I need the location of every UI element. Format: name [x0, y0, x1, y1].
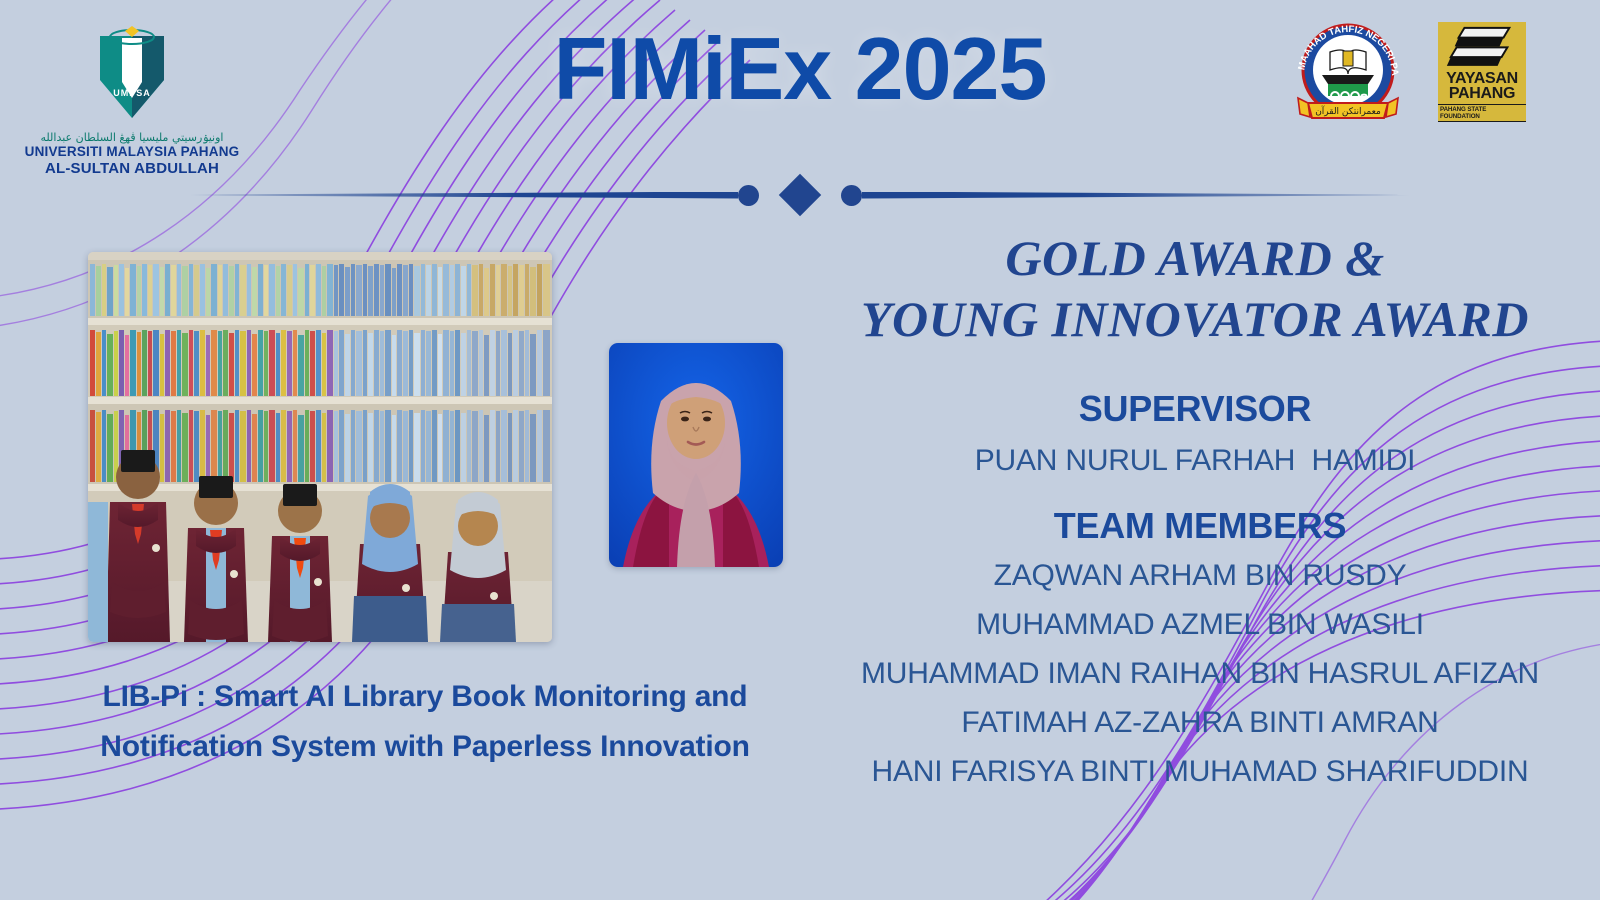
project-title: LIB-Pi : Smart AI Library Book Monitorin…: [75, 672, 775, 771]
divider-dot-right-icon: [841, 185, 862, 206]
team-member: FATIMAH AZ-ZAHRA BINTI AMRAN: [795, 703, 1600, 743]
team-member: ZAQWAN ARHAM BIN RUSDY: [795, 556, 1600, 596]
umpsa-name-line2: AL-SULTAN ABDULLAH: [22, 160, 242, 177]
supervisor-name: PUAN NURUL FARHAH HAMIDI: [800, 441, 1590, 481]
team-heading: TEAM MEMBERS: [795, 505, 1600, 547]
divider-diamond-icon: [779, 174, 821, 216]
team-member-list: ZAQWAN ARHAM BIN RUSDY MUHAMMAD AZMEL BI…: [795, 556, 1600, 791]
divider-line-left: [190, 192, 738, 199]
ornamental-divider: [190, 177, 1410, 213]
event-title: FIMiEx 2025: [0, 18, 1600, 120]
divider-dot-left-icon: [738, 185, 759, 206]
award-line-2: YOUNG INNOVATOR AWARD: [800, 289, 1590, 350]
supervisor-section: SUPERVISOR PUAN NURUL FARHAH HAMIDI: [800, 388, 1590, 481]
award-headline: GOLD AWARD & YOUNG INNOVATOR AWARD: [800, 228, 1590, 350]
group-photo: [88, 252, 552, 642]
team-member: MUHAMMAD AZMEL BIN WASILI: [795, 605, 1600, 645]
umpsa-arabic-text: اونيۏرسيتي مليسيا ڤهڠ السلطان عبدالله: [22, 132, 242, 143]
umpsa-name-line1: UNIVERSITI MALAYSIA PAHANG: [22, 144, 242, 160]
supervisor-heading: SUPERVISOR: [800, 388, 1590, 430]
team-section: TEAM MEMBERS ZAQWAN ARHAM BIN RUSDY MUHA…: [795, 505, 1600, 791]
team-member: MUHAMMAD IMAN RAIHAN BIN HASRUL AFIZAN: [795, 654, 1600, 694]
team-member: HANI FARISYA BINTI MUHAMAD SHARIFUDDIN: [795, 752, 1600, 792]
award-line-1: GOLD AWARD &: [800, 228, 1590, 289]
poster-canvas: UMPSA اونيۏرسيتي مليسيا ڤهڠ السلطان عبدا…: [0, 0, 1600, 900]
divider-line-right: [862, 192, 1410, 199]
supervisor-photo: [609, 343, 783, 567]
